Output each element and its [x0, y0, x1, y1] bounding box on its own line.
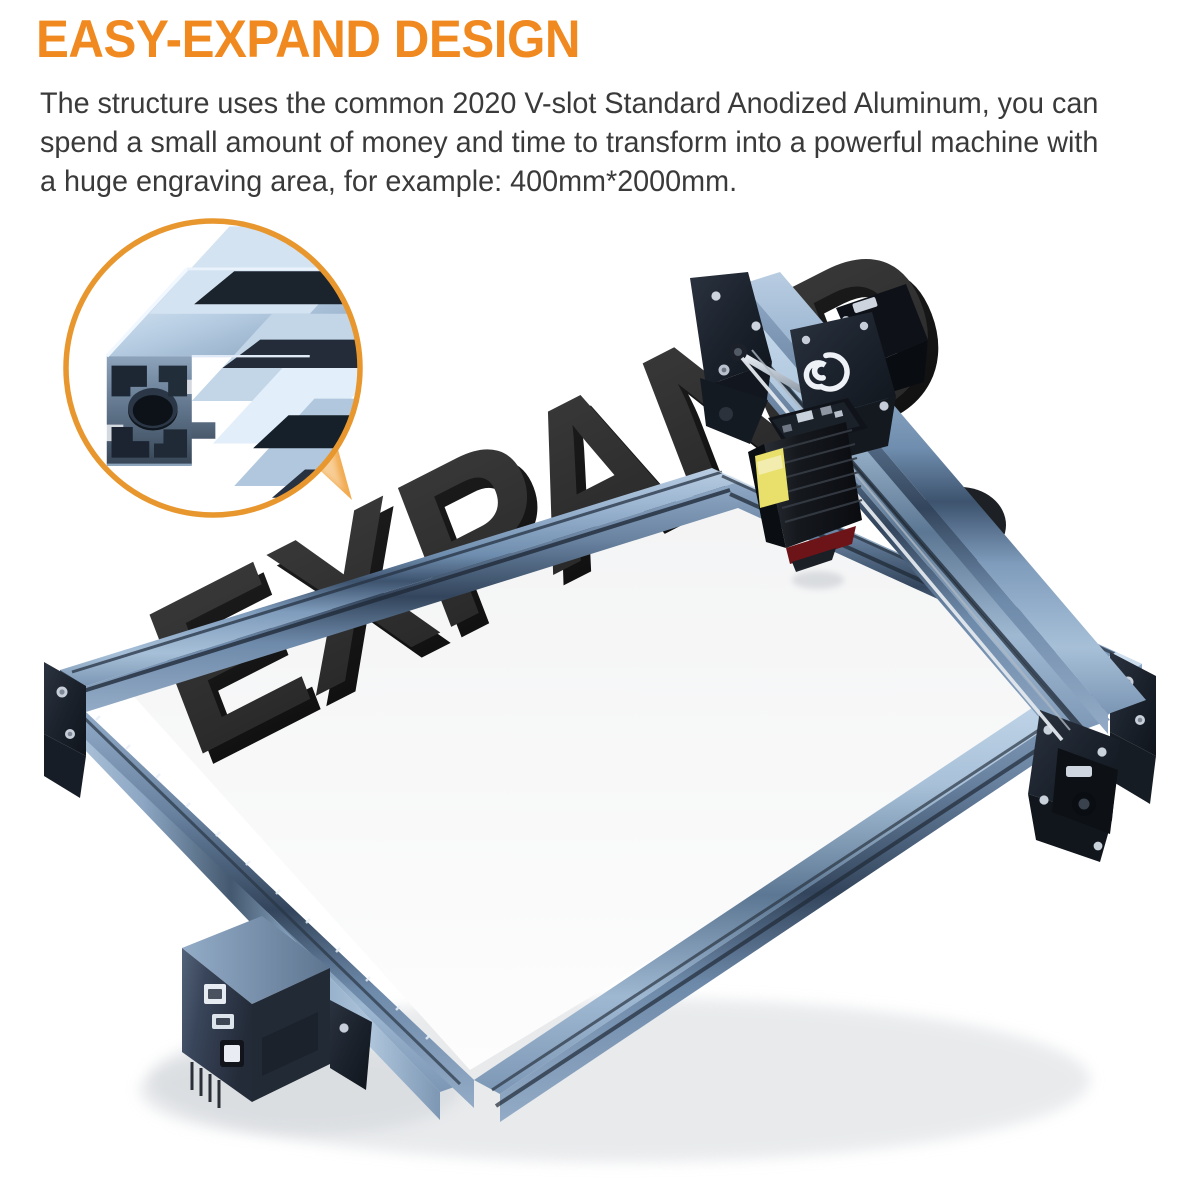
tf-card-slot[interactable] [212, 1014, 234, 1029]
usb-port[interactable] [204, 984, 226, 1004]
gantry-right-motor-block [1028, 710, 1120, 862]
laser-warning-label [755, 448, 789, 508]
description-paragraph: The structure uses the common 2020 V-slo… [40, 84, 1122, 202]
laser-engraver-artwork: EXPAND EXPAND [0, 200, 1200, 1200]
frame-foot-left [44, 662, 86, 798]
page-title: EASY-EXPAND DESIGN [36, 12, 580, 68]
product-feature-image: EASY-EXPAND DESIGN The structure uses th… [0, 0, 1200, 1200]
laser-spot-shadow [792, 571, 844, 589]
power-rocker-switch[interactable] [220, 1040, 244, 1067]
product-illustration: EXPAND EXPAND [0, 200, 1200, 1200]
